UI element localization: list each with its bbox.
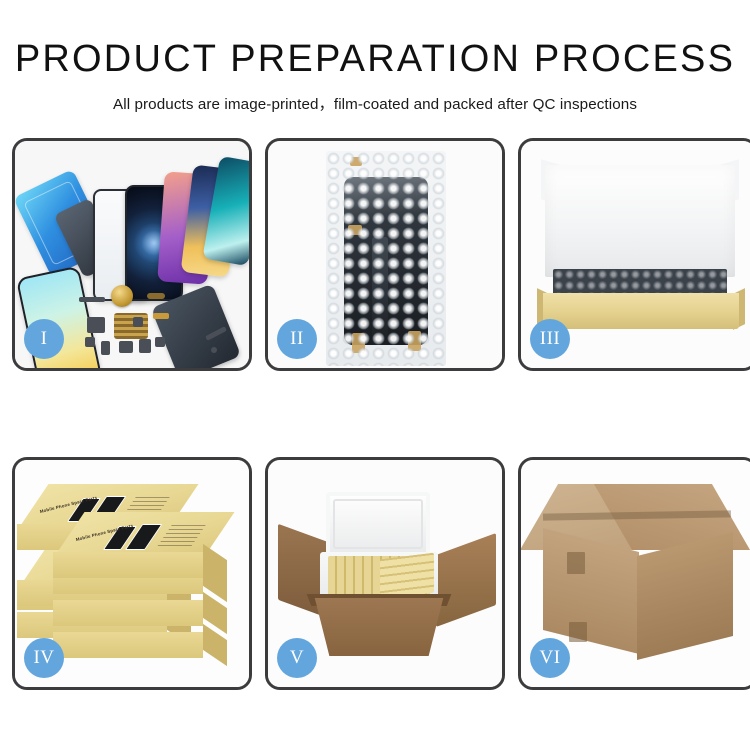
box-front bbox=[53, 632, 203, 658]
bubble-texture bbox=[326, 151, 446, 366]
process-step-panel-2: II bbox=[265, 138, 505, 371]
process-step-grid: I II bbox=[12, 138, 738, 694]
kraft-box-front bbox=[543, 293, 739, 329]
box-front bbox=[53, 552, 203, 578]
box-front bbox=[53, 600, 203, 626]
step-badge-4: IV bbox=[24, 638, 64, 678]
box-label-textblock bbox=[158, 524, 207, 546]
part-chip bbox=[139, 339, 151, 353]
part-screw bbox=[211, 347, 217, 353]
process-step-panel-1: I bbox=[12, 138, 252, 371]
step-badge-5: V bbox=[277, 638, 317, 678]
kraft-boxes-inside bbox=[380, 553, 434, 600]
step-badge-2: II bbox=[277, 319, 317, 359]
logic-board-component-icon bbox=[114, 313, 148, 339]
process-step-panel-4: Mobile Phone Spare Parts Mobile Phone Sp… bbox=[12, 457, 252, 690]
header: PRODUCT PREPARATION PROCESS All products… bbox=[0, 0, 750, 114]
part-chip bbox=[133, 317, 143, 327]
part-chip bbox=[155, 337, 165, 347]
part-chip bbox=[79, 297, 105, 302]
product-preparation-infographic: PRODUCT PREPARATION PROCESS All products… bbox=[0, 0, 750, 750]
foam-sheet-image bbox=[545, 165, 735, 277]
process-step-panel-6: VI bbox=[518, 457, 750, 690]
part-chip bbox=[101, 341, 110, 355]
step-badge-1: I bbox=[24, 319, 64, 359]
page-subtitle: All products are image-printed，film-coat… bbox=[0, 92, 750, 114]
page-title: PRODUCT PREPARATION PROCESS bbox=[0, 40, 750, 80]
part-chip bbox=[119, 341, 133, 353]
foam-box-lid-image bbox=[326, 492, 430, 556]
step-badge-3: III bbox=[530, 319, 570, 359]
carton-hand-hole bbox=[567, 552, 585, 574]
step-badge-6: VI bbox=[530, 638, 570, 678]
process-step-panel-3: III bbox=[518, 138, 750, 371]
part-chip bbox=[85, 337, 95, 347]
part-flex-cable bbox=[147, 293, 165, 299]
bubble-wrap-bag-image bbox=[326, 151, 446, 366]
process-step-panel-5: V bbox=[265, 457, 505, 690]
part-connector bbox=[153, 313, 169, 319]
carton-front bbox=[306, 598, 452, 656]
carton-hand-hole bbox=[569, 622, 587, 642]
part-chip bbox=[87, 317, 105, 333]
speaker-component-icon bbox=[111, 285, 133, 307]
